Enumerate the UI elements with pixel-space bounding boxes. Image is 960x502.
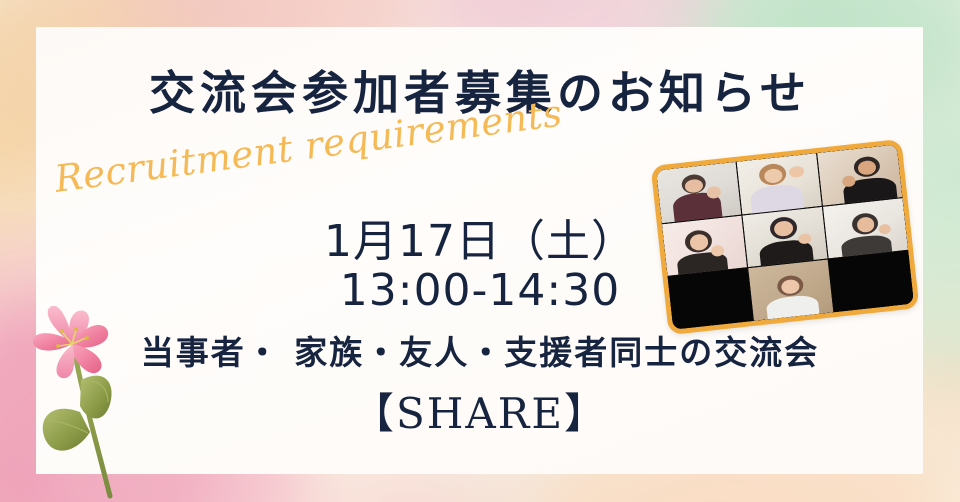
- photo-tile: [817, 144, 902, 205]
- photo-tile: [656, 162, 741, 223]
- photo-grid: [656, 144, 914, 329]
- photo-tile: [737, 153, 822, 214]
- photo-tile-empty: [668, 269, 753, 330]
- photo-tile: [742, 206, 827, 267]
- video-call-photo-collage: [651, 139, 920, 335]
- photo-tile: [662, 215, 747, 276]
- photo-tile: [748, 260, 833, 321]
- event-subtitle: 当事者・ 家族・友人・支援者同士の交流会: [0, 326, 960, 374]
- photo-tile-empty: [829, 251, 914, 312]
- poster-banner: 交流会参加者募集のお知らせ Recruitment requirements 1…: [0, 0, 960, 502]
- group-name: 【SHARE】: [0, 380, 960, 441]
- photo-tile: [823, 198, 908, 259]
